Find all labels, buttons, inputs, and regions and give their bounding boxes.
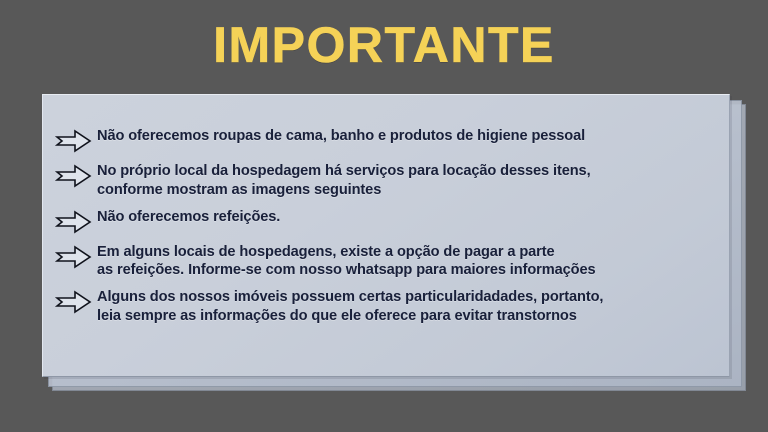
right-block-arrow-icon — [55, 244, 93, 270]
list-item-label: Em alguns locais de hospedagens, existe … — [97, 243, 596, 281]
right-block-arrow-icon — [55, 128, 93, 154]
list-item-label: Não oferecemos roupas de cama, banho e p… — [97, 127, 585, 146]
page-title: IMPORTANTE — [0, 20, 768, 70]
content-panel: Não oferecemos roupas de cama, banho e p… — [42, 94, 730, 377]
slide-canvas: IMPORTANTE Não oferecemos roupas de cama… — [0, 0, 768, 432]
right-block-arrow-icon — [55, 289, 93, 315]
list-item: No próprio local da hospedagem há serviç… — [55, 162, 719, 200]
list-item: Alguns dos nossos imóveis possuem certas… — [55, 288, 719, 326]
right-block-arrow-icon — [55, 209, 93, 235]
right-block-arrow-icon — [55, 163, 93, 189]
list-item: Em alguns locais de hospedagens, existe … — [55, 243, 719, 281]
list-item-label: Não oferecemos refeições. — [97, 208, 280, 227]
list-item: Não oferecemos roupas de cama, banho e p… — [55, 127, 719, 154]
bullet-list: Não oferecemos roupas de cama, banho e p… — [55, 127, 719, 334]
list-item: Não oferecemos refeições. — [55, 208, 719, 235]
list-item-label: No próprio local da hospedagem há serviç… — [97, 162, 591, 200]
list-item-label: Alguns dos nossos imóveis possuem certas… — [97, 288, 603, 326]
